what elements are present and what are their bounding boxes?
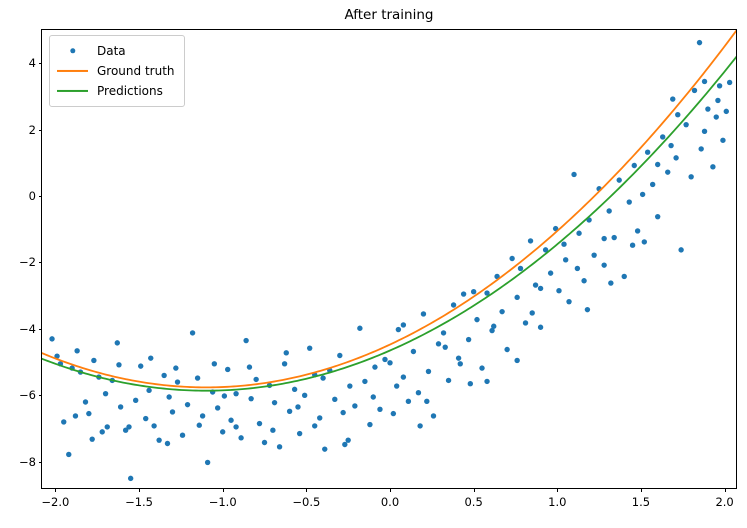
data-point — [417, 423, 422, 428]
data-point — [391, 411, 396, 416]
data-point — [382, 357, 387, 362]
data-point — [484, 379, 489, 384]
data-point — [608, 280, 613, 285]
data-point — [205, 460, 210, 465]
x-tick-label: −1.5 — [125, 495, 153, 509]
x-tick-label: 1.0 — [548, 495, 566, 509]
x-tick-mark — [139, 488, 140, 492]
data-point — [200, 413, 205, 418]
data-point — [523, 320, 528, 325]
data-point — [66, 452, 71, 457]
data-point — [146, 388, 151, 393]
data-point — [710, 164, 715, 169]
data-point — [509, 256, 514, 261]
data-point — [468, 381, 473, 386]
y-tick-label: −2 — [19, 255, 36, 269]
data-point — [668, 143, 673, 148]
data-point — [548, 270, 553, 275]
data-point — [697, 40, 702, 45]
data-point — [491, 324, 496, 329]
data-point — [166, 394, 171, 399]
data-point — [73, 413, 78, 418]
data-point — [151, 423, 156, 428]
y-tick-mark — [39, 262, 43, 263]
data-point — [133, 398, 138, 403]
legend-label-ground-truth: Ground truth — [97, 64, 175, 78]
data-point — [611, 235, 616, 240]
data-point — [606, 208, 611, 213]
x-tick-label: 1.5 — [632, 495, 650, 509]
data-point — [253, 377, 258, 382]
data-point — [367, 422, 372, 427]
data-point — [660, 134, 665, 139]
data-point — [698, 146, 703, 151]
matplotlib-figure: After training Data Ground truth — [0, 0, 747, 528]
data-point — [627, 199, 632, 204]
data-point — [396, 327, 401, 332]
data-point — [533, 282, 538, 287]
data-point — [479, 365, 484, 370]
data-point — [212, 361, 217, 366]
data-point — [571, 172, 576, 177]
data-point — [180, 433, 185, 438]
x-tick-label: −0.5 — [292, 495, 320, 509]
data-point — [347, 383, 352, 388]
x-tick-label: −2.0 — [41, 495, 69, 509]
data-point — [238, 435, 243, 440]
data-point — [727, 80, 732, 85]
data-point — [243, 338, 248, 343]
data-point — [74, 348, 79, 353]
data-point — [640, 192, 645, 197]
data-point — [175, 379, 180, 384]
data-point — [190, 330, 195, 335]
data-point — [645, 150, 650, 155]
data-point — [456, 355, 461, 360]
ground-truth-line-icon — [57, 64, 88, 78]
data-point — [714, 114, 719, 119]
y-tick-mark — [39, 395, 43, 396]
data-point — [148, 355, 153, 360]
data-point — [143, 416, 148, 421]
data-point — [83, 399, 88, 404]
x-tick-label: 0.0 — [381, 495, 399, 509]
legend-item-ground-truth: Ground truth — [57, 61, 175, 81]
y-tick-label: −4 — [19, 322, 36, 336]
data-point — [443, 344, 448, 349]
data-point — [262, 440, 267, 445]
data-point — [247, 364, 252, 369]
data-point — [340, 410, 345, 415]
y-tick-label: 2 — [29, 123, 36, 137]
data-point — [441, 330, 446, 335]
data-point — [173, 365, 178, 370]
data-point — [352, 403, 357, 408]
data-point — [717, 83, 722, 88]
predictions-line-icon — [57, 84, 88, 98]
data-point — [670, 96, 675, 101]
data-point — [538, 286, 543, 291]
data-point — [720, 138, 725, 143]
data-point — [215, 405, 220, 410]
data-point — [673, 155, 678, 160]
data-point — [556, 288, 561, 293]
scatter-dot-icon — [70, 48, 75, 53]
data-point — [655, 162, 660, 167]
y-tick-label: 0 — [29, 189, 36, 203]
data-point — [655, 214, 660, 219]
data-point — [630, 243, 635, 248]
data-point — [342, 442, 347, 447]
legend-item-predictions: Predictions — [57, 81, 175, 101]
data-point — [284, 350, 289, 355]
data-point — [530, 310, 535, 315]
data-point — [401, 322, 406, 327]
data-point — [411, 349, 416, 354]
data-point — [100, 429, 105, 434]
data-point — [282, 361, 287, 366]
data-point — [222, 393, 227, 398]
data-point — [307, 345, 312, 350]
data-point — [257, 421, 262, 426]
data-point — [461, 291, 466, 296]
data-point — [424, 399, 429, 404]
data-point — [228, 418, 233, 423]
x-tick-label: 2.0 — [715, 495, 733, 509]
data-point — [272, 400, 277, 405]
data-point — [518, 266, 523, 271]
data-point — [105, 424, 110, 429]
data-point — [466, 337, 471, 342]
data-point — [220, 429, 225, 434]
y-tick-label: 4 — [29, 56, 36, 70]
data-point — [581, 278, 586, 283]
data-point — [320, 375, 325, 380]
data-point — [337, 353, 342, 358]
data-point — [233, 391, 238, 396]
data-point — [622, 274, 627, 279]
data-point — [292, 387, 297, 392]
y-tick-label: −6 — [19, 388, 36, 402]
data-point — [650, 182, 655, 187]
data-point — [678, 247, 683, 252]
data-point — [705, 106, 710, 111]
data-point — [601, 262, 606, 267]
data-point — [312, 423, 317, 428]
data-point — [126, 424, 131, 429]
data-point — [128, 476, 133, 481]
data-point — [446, 378, 451, 383]
y-tick-mark — [39, 63, 43, 64]
data-point — [635, 228, 640, 233]
data-point — [161, 373, 166, 378]
data-point — [225, 367, 230, 372]
data-point — [195, 375, 200, 380]
data-point — [642, 239, 647, 244]
data-point — [499, 309, 504, 314]
data-point — [91, 358, 96, 363]
data-point — [394, 383, 399, 388]
data-point — [185, 402, 190, 407]
chart-legend: Data Ground truth Predictions — [49, 35, 185, 107]
data-point — [49, 336, 54, 341]
data-point — [115, 340, 120, 345]
data-point — [575, 266, 580, 271]
data-point — [471, 289, 476, 294]
data-point — [401, 374, 406, 379]
data-point — [416, 390, 421, 395]
data-point — [197, 423, 202, 428]
data-point — [387, 360, 392, 365]
data-point — [702, 129, 707, 134]
x-tick-mark — [557, 488, 558, 492]
data-point — [528, 238, 533, 243]
data-point — [322, 446, 327, 451]
data-point — [297, 431, 302, 436]
data-point — [170, 409, 175, 414]
x-tick-mark — [474, 488, 475, 492]
data-point — [116, 362, 121, 367]
data-point — [86, 411, 91, 416]
data-point — [295, 404, 300, 409]
data-point — [632, 163, 637, 168]
x-tick-mark — [55, 488, 56, 492]
x-tick-mark — [306, 488, 307, 492]
data-point — [561, 242, 566, 247]
page-title: After training — [41, 6, 737, 24]
line-swatch-icon — [57, 70, 88, 72]
data-point — [277, 444, 282, 449]
data-point — [332, 397, 337, 402]
y-tick-mark — [39, 130, 43, 131]
data-point — [563, 257, 568, 262]
y-tick-mark — [39, 196, 43, 197]
x-tick-mark — [725, 488, 726, 492]
data-point — [421, 311, 426, 316]
data-point — [431, 413, 436, 418]
data-point — [371, 394, 376, 399]
data-point — [357, 326, 362, 331]
data-point — [345, 437, 350, 442]
data-point — [156, 437, 161, 442]
data-point — [675, 112, 680, 117]
data-point — [514, 358, 519, 363]
data-point — [406, 399, 411, 404]
data-point — [538, 325, 543, 330]
data-point — [585, 307, 590, 312]
data-point — [302, 393, 307, 398]
x-tick-mark — [223, 488, 224, 492]
data-point — [103, 391, 108, 396]
data-point — [451, 302, 456, 307]
data-point — [362, 379, 367, 384]
y-tick-mark — [39, 329, 43, 330]
data-point — [688, 174, 693, 179]
data-point — [436, 341, 441, 346]
data-point — [89, 436, 94, 441]
data-point — [715, 98, 720, 103]
data-point — [601, 236, 606, 241]
data-point — [591, 252, 596, 257]
data-point — [287, 409, 292, 414]
data-point — [576, 231, 581, 236]
x-tick-label: 0.5 — [464, 495, 482, 509]
legend-label-data: Data — [97, 44, 126, 58]
data-point — [665, 169, 670, 174]
data-point — [165, 441, 170, 446]
data-point — [118, 404, 123, 409]
data-point — [377, 407, 382, 412]
data-point — [504, 347, 509, 352]
data-marker-icon — [57, 44, 88, 58]
data-point — [138, 363, 143, 368]
data-point — [683, 122, 688, 127]
data-point — [692, 88, 697, 93]
data-point — [372, 364, 377, 369]
y-tick-label: −8 — [19, 455, 36, 469]
x-tick-mark — [390, 488, 391, 492]
legend-item-data: Data — [57, 41, 175, 61]
plot-axes: Data Ground truth Predictions 420−2−4−6−… — [41, 29, 737, 489]
data-point — [474, 317, 479, 322]
data-point — [233, 424, 238, 429]
data-point — [724, 109, 729, 114]
data-point — [248, 396, 253, 401]
data-point — [270, 428, 275, 433]
data-point — [702, 79, 707, 84]
data-point — [458, 361, 463, 366]
y-tick-mark — [39, 462, 43, 463]
legend-label-predictions: Predictions — [97, 84, 163, 98]
x-tick-mark — [641, 488, 642, 492]
line-swatch-icon — [57, 90, 88, 92]
x-tick-label: −1.0 — [209, 495, 237, 509]
data-point — [514, 295, 519, 300]
data-point — [617, 177, 622, 182]
data-point — [61, 419, 66, 424]
data-point — [317, 415, 322, 420]
data-point — [566, 299, 571, 304]
data-point — [426, 369, 431, 374]
